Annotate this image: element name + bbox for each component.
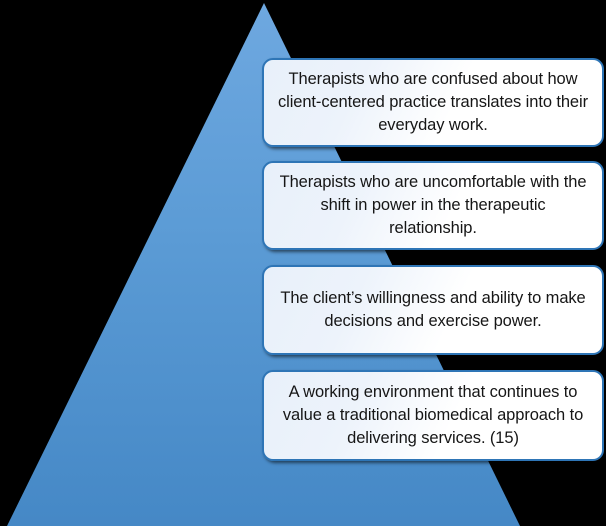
diagram-canvas: Therapists who are confused about how cl… xyxy=(0,0,606,526)
callout-box-4-text: A working environment that continues to … xyxy=(264,381,602,450)
callout-box-2-text: Therapists who are uncomfortable with th… xyxy=(264,171,602,240)
callout-box-2[interactable]: Therapists who are uncomfortable with th… xyxy=(262,161,604,250)
callout-box-1[interactable]: Therapists who are confused about how cl… xyxy=(262,58,604,147)
callout-box-4[interactable]: A working environment that continues to … xyxy=(262,370,604,461)
callout-box-1-text: Therapists who are confused about how cl… xyxy=(264,68,602,137)
callout-box-3[interactable]: The client’s willingness and ability to … xyxy=(262,265,604,355)
callout-box-3-text: The client’s willingness and ability to … xyxy=(264,287,602,333)
